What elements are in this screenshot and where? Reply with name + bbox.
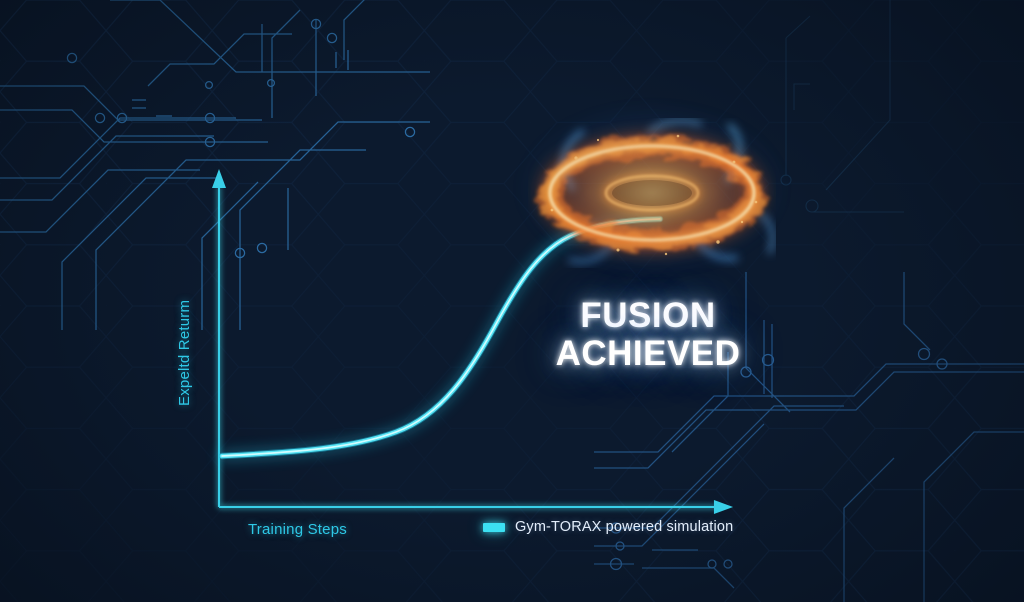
- x-axis-label: Training Steps: [248, 521, 347, 538]
- headline-fusion-achieved: FUSION ACHIEVED: [548, 297, 748, 373]
- headline-line-1: FUSION: [548, 297, 748, 335]
- legend-label: Gym-TORAX powered simulation: [515, 519, 733, 535]
- legend-swatch-icon: [483, 523, 505, 532]
- chart-plot-area: [0, 0, 1024, 602]
- chart-legend: Gym-TORAX powered simulation: [483, 519, 733, 535]
- poster-canvas: FUSION ACHIEVED Expeltd Returm Training …: [0, 0, 1024, 602]
- y-axis-label: Expeltd Returm: [176, 300, 193, 406]
- headline-line-2: ACHIEVED: [548, 335, 748, 373]
